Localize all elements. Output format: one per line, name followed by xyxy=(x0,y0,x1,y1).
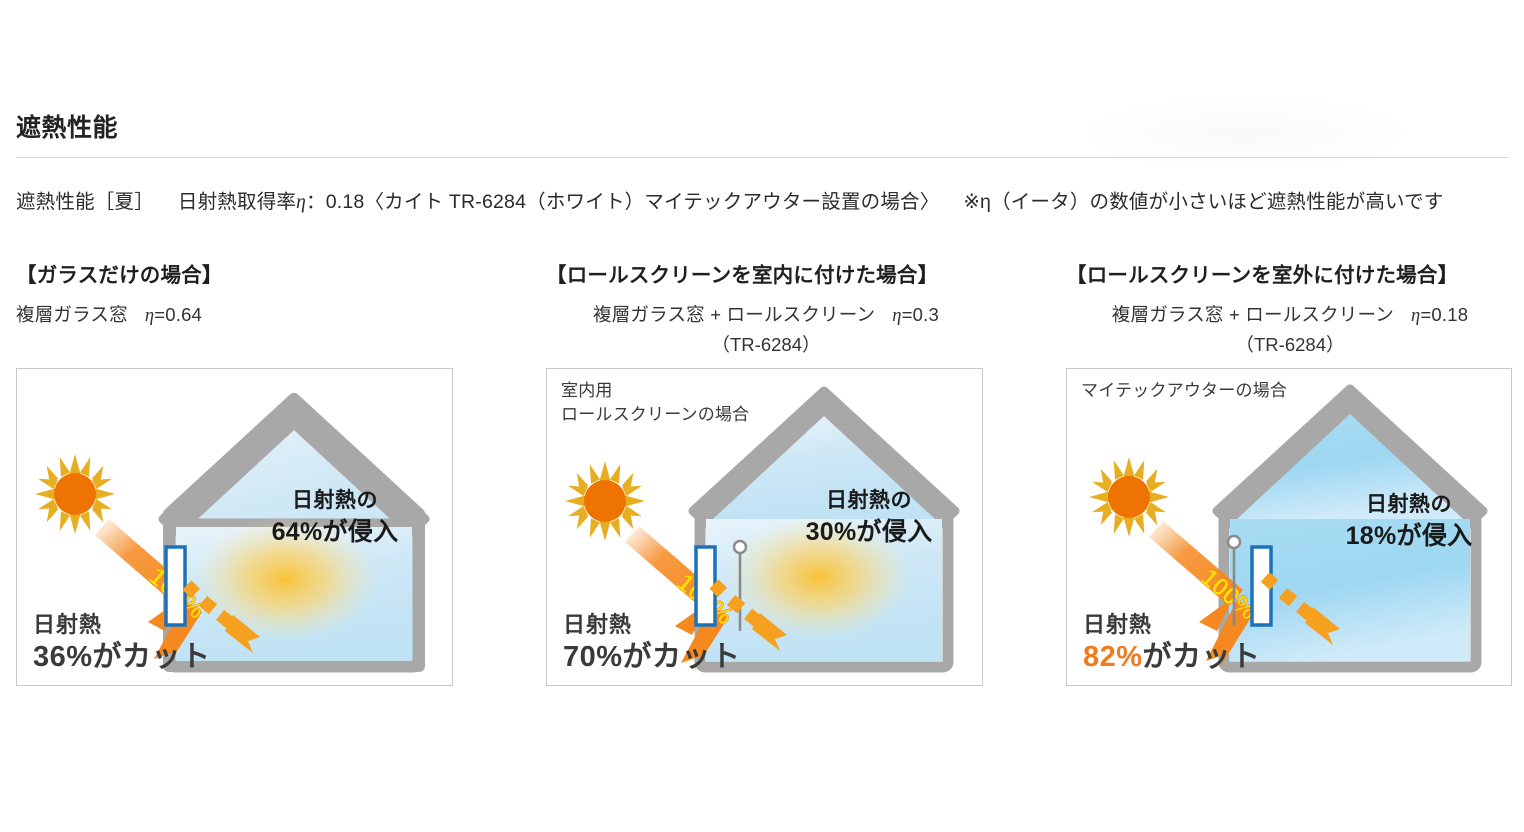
case-title: 【ロールスクリーンを室内に付けた場合】 xyxy=(546,258,986,288)
inside-gain-bottom: 18%が侵入 xyxy=(1319,520,1499,553)
diagram-outdoor-screen: 100% マイテックアウターの場合 日射熱の 18%が侵入 日射熱 82%がカッ… xyxy=(1066,368,1512,686)
summary-colon: ： xyxy=(306,191,326,213)
cut-percent: 70% xyxy=(563,641,623,673)
cut-percent: 36% xyxy=(33,641,93,673)
case-column-glass-only: 【ガラスだけの場合】 複層ガラス窓η=0.64 xyxy=(16,258,456,327)
case-spec-model: （TR-6284） xyxy=(1066,331,1514,357)
inside-gain-bottom: 30%が侵入 xyxy=(779,516,959,549)
eta-symbol: η xyxy=(145,306,154,326)
summary-note: ※η（イータ）の数値が小さいほど遮熱性能が高いです xyxy=(963,191,1443,213)
summary-source: 〈カイト TR-6284（ホワイト）マイテックアウター設置の場合〉 xyxy=(364,191,939,213)
diagram-indoor-screen: 100% 室内用 ロールスクリーンの場合 日射熱の 30%が侵入 日射熱 70%… xyxy=(546,368,983,686)
case-spec-product: 複層ガラス窓 + ロールスクリーン xyxy=(1112,304,1394,325)
case-column-outdoor-screen: 【ロールスクリーンを室外に付けた場合】 複層ガラス窓 + ロールスクリーンη=0… xyxy=(1066,258,1514,357)
eta-symbol: η xyxy=(892,306,901,326)
diagram-glass-only: 100% 日射熱の 64%が侵入 日射熱 36%がカット xyxy=(16,368,453,686)
title-divider xyxy=(16,157,1508,158)
cut-suffix: がカット xyxy=(1143,641,1261,673)
sun-icon xyxy=(35,454,115,534)
cut-label-top: 日射熱 xyxy=(563,613,741,638)
case-spec-value: =0.3 xyxy=(902,304,939,325)
cut-label-bottom: 36%がカット xyxy=(33,641,211,673)
summary-label: 遮熱性能［夏］ xyxy=(16,191,154,213)
cut-label: 日射熱 70%がカット xyxy=(563,613,741,673)
summary-metric-prefix: 日射熱取得率 xyxy=(178,191,296,213)
cut-label: 日射熱 36%がカット xyxy=(33,613,211,673)
cut-suffix: がカット xyxy=(93,641,211,673)
case-spec-product: 複層ガラス窓 xyxy=(16,304,128,325)
panel-note: マイテックアウターの場合 xyxy=(1081,379,1287,403)
panel-note: 室内用 ロールスクリーンの場合 xyxy=(561,379,749,427)
inside-gain-bottom: 64%が侵入 xyxy=(245,516,425,549)
case-spec: 複層ガラス窓 + ロールスクリーンη=0.3 xyxy=(546,301,986,327)
page-watermark xyxy=(1075,95,1415,165)
inside-gain-top: 日射熱の xyxy=(779,487,959,514)
case-title: 【ロールスクリーンを室外に付けた場合】 xyxy=(1066,258,1514,288)
cut-label-top: 日射熱 xyxy=(1083,613,1261,638)
sun-icon xyxy=(1089,457,1169,537)
cut-label-bottom: 82%がカット xyxy=(1083,641,1261,673)
case-title: 【ガラスだけの場合】 xyxy=(16,258,456,288)
summary-line: 遮熱性能［夏］日射熱取得率η：0.18〈カイト TR-6284（ホワイト）マイテ… xyxy=(16,185,1444,214)
summary-value: 0.18 xyxy=(326,191,365,213)
inside-gain-label: 日射熱の 18%が侵入 xyxy=(1319,491,1499,553)
case-spec-model: （TR-6284） xyxy=(546,331,986,357)
page-title: 遮熱性能 xyxy=(16,108,118,144)
case-spec-value: =0.18 xyxy=(1420,304,1468,325)
case-spec: 複層ガラス窓η=0.64 xyxy=(16,301,456,327)
cut-suffix: がカット xyxy=(623,641,741,673)
inside-gain-label: 日射熱の 64%が侵入 xyxy=(245,487,425,549)
cut-label-top: 日射熱 xyxy=(33,613,211,638)
eta-symbol: η xyxy=(296,192,306,213)
case-spec-product: 複層ガラス窓 + ロールスクリーン xyxy=(593,304,875,325)
inside-gain-top: 日射熱の xyxy=(245,487,425,514)
cut-label-bottom: 70%がカット xyxy=(563,641,741,673)
cut-label: 日射熱 82%がカット xyxy=(1083,613,1261,673)
inside-gain-label: 日射熱の 30%が侵入 xyxy=(779,487,959,549)
eta-symbol: η xyxy=(1411,306,1420,326)
case-column-indoor-screen: 【ロールスクリーンを室内に付けた場合】 複層ガラス窓 + ロールスクリーンη=0… xyxy=(546,258,986,357)
sun-icon xyxy=(565,461,645,541)
case-spec-value: =0.64 xyxy=(154,304,202,325)
inside-gain-top: 日射熱の xyxy=(1319,491,1499,518)
cut-percent: 82% xyxy=(1083,641,1143,673)
case-spec: 複層ガラス窓 + ロールスクリーンη=0.18 xyxy=(1066,301,1514,327)
